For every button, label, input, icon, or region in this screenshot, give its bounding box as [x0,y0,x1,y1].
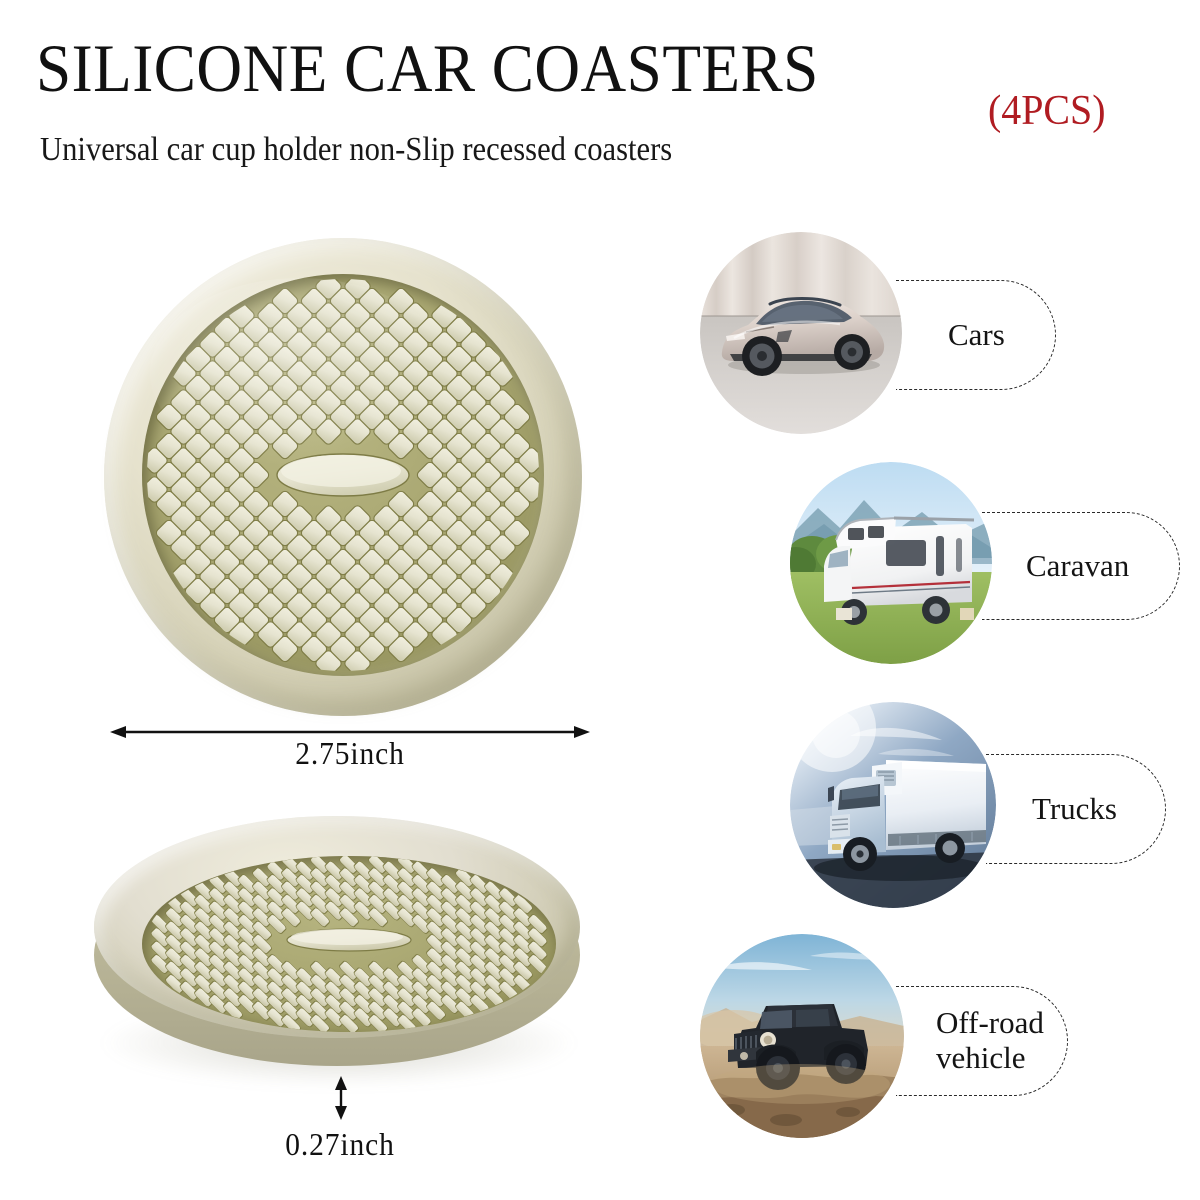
use-case-cars: Cars [700,232,1170,442]
coaster-angled-view [82,800,590,1100]
silver-sedan-studio-photo [700,232,902,434]
callout-pill-offroad: Off-road vehicle [896,986,1068,1096]
thickness-label: 0.27inch [202,1126,478,1163]
coaster-body [94,816,580,1038]
non-slip-diamond-grid [142,856,556,1032]
page-title: SILICONE CAR COASTERS [36,34,819,102]
photo-trucks [790,702,996,908]
coaster-recessed-well [142,274,544,676]
diameter-label: 2.75inch [129,735,571,772]
photo-cars [700,232,902,434]
coaster-recessed-well [142,856,556,1032]
use-case-label-trucks: Trucks [1032,792,1117,827]
product-infographic: SILICONE CAR COASTERS (4PCS) Universal c… [0,0,1200,1200]
use-case-label-caravan: Caravan [1026,549,1129,584]
non-slip-diamond-grid [142,274,544,676]
use-case-offroad: Off-road vehicle [700,934,1170,1149]
page-subtitle: Universal car cup holder non-Slip recess… [40,133,672,167]
thickness-dimension-arrow [334,1076,348,1120]
photo-offroad [700,934,904,1138]
photo-caravan [790,462,992,664]
blue-box-truck-photo [790,702,996,908]
use-case-caravan: Caravan [790,462,1180,672]
use-case-label-offroad: Off-road vehicle [936,1006,1044,1075]
callout-pill-caravan: Caravan [982,512,1180,620]
coaster-top-view [104,238,582,716]
white-motorhome-campsite-photo [790,462,992,664]
callout-pill-trucks: Trucks [986,754,1166,864]
black-jeep-desert-photo [700,934,904,1138]
use-case-trucks: Trucks [790,700,1180,915]
callout-pill-cars: Cars [896,280,1056,390]
use-case-label-cars: Cars [948,318,1005,353]
quantity-badge: (4PCS) [988,90,1106,132]
